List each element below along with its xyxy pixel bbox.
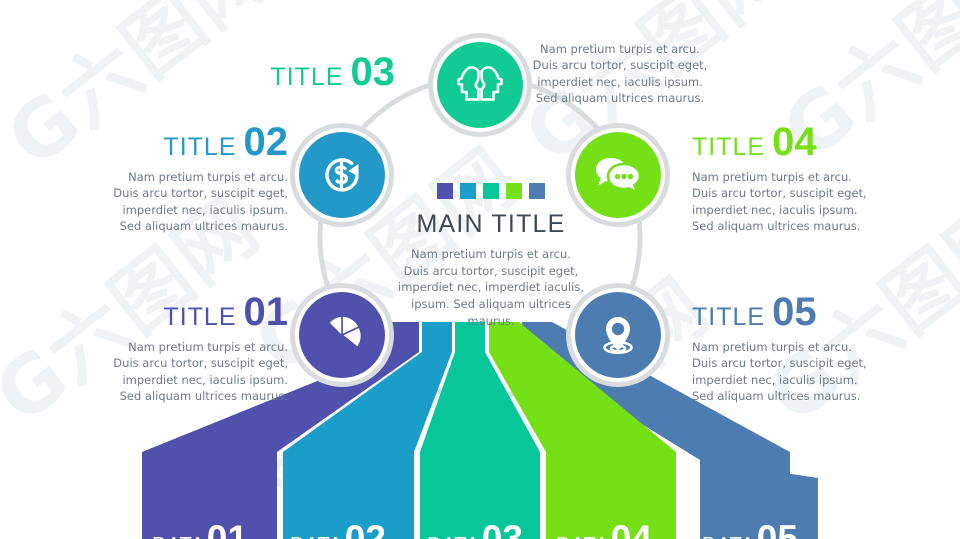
pie-chart-icon: [318, 311, 366, 359]
data-bar-label-1: DATA 01: [152, 518, 248, 539]
section-number: 02: [244, 122, 289, 162]
data-bar-value: 05: [757, 518, 798, 539]
data-bar-text: DATA: [290, 534, 343, 539]
data-bar-label-5: DATA 05: [702, 518, 798, 539]
section-number: 01: [244, 292, 289, 332]
swatch-1: [437, 183, 453, 199]
section-word: TITLE: [270, 65, 343, 90]
swatch-2: [460, 183, 476, 199]
swatch-5: [529, 183, 545, 199]
section-block-5: TITLE 05 Nam pretium turpis et arcu. Dui…: [692, 292, 874, 404]
section-block-2: TITLE 02 Nam pretium turpis et arcu. Dui…: [108, 122, 288, 234]
data-bar-value: 02: [345, 518, 386, 539]
data-bar-label-4: DATA 04: [556, 518, 652, 539]
section-heading-3: TITLE 03: [245, 52, 395, 92]
swatch-3: [483, 183, 499, 199]
section-number: 03: [351, 52, 396, 92]
node-disc-1: [295, 288, 389, 382]
section-body-4: Nam pretium turpis et arcu. Duis arcu to…: [692, 169, 874, 234]
map-pin-icon: [594, 311, 642, 359]
data-bar-value: 04: [611, 518, 652, 539]
section-number: 05: [772, 292, 817, 332]
section-heading-4: TITLE 04: [692, 122, 874, 162]
data-bar-text: DATA: [427, 534, 480, 539]
section-body-1: Nam pretium turpis et arcu. Duis arcu to…: [108, 339, 288, 404]
main-description: Nam pretium turpis et arcu. Duis arcu to…: [398, 246, 584, 329]
data-bar-value: 03: [482, 518, 523, 539]
section-body-5: Nam pretium turpis et arcu. Duis arcu to…: [692, 339, 874, 404]
section-block-3: TITLE 03: [245, 52, 395, 92]
data-bar-text: DATA: [152, 534, 205, 539]
section-body-wrap-3: Nam pretium turpis et arcu. Duis arcu to…: [530, 41, 710, 106]
data-bar-label-3: DATA 03: [427, 518, 523, 539]
center-block: MAIN TITLE Nam pretium turpis et arcu. D…: [398, 183, 584, 329]
section-word: TITLE: [692, 305, 765, 330]
section-block-4: TITLE 04 Nam pretium turpis et arcu. Dui…: [692, 122, 874, 234]
section-number: 04: [772, 122, 817, 162]
node-circle-3[interactable]: [428, 33, 532, 137]
data-bar-value: 01: [207, 518, 248, 539]
node-disc-3: [433, 38, 527, 132]
two-heads-icon: [456, 63, 504, 107]
section-heading-5: TITLE 05: [692, 292, 874, 332]
section-heading-1: TITLE 01: [108, 292, 288, 332]
section-heading-2: TITLE 02: [108, 122, 288, 162]
section-word: TITLE: [163, 135, 236, 160]
section-word: TITLE: [163, 305, 236, 330]
swatch-4: [506, 183, 522, 199]
node-circle-4[interactable]: [566, 123, 670, 227]
data-bar-text: DATA: [556, 534, 609, 539]
main-title: MAIN TITLE: [398, 212, 584, 237]
data-bar-text: DATA: [702, 534, 755, 539]
section-body-3: Nam pretium turpis et arcu. Duis arcu to…: [530, 41, 710, 106]
node-disc-4: [571, 128, 665, 222]
infographic-canvas: G六图网 G六图网 G六图网 G六图网 G六图网 G六图网 G六图网 G六图网: [0, 0, 960, 539]
node-circle-2[interactable]: [290, 123, 394, 227]
money-refresh-icon: [318, 151, 366, 199]
node-disc-5: [571, 288, 665, 382]
section-body-2: Nam pretium turpis et arcu. Duis arcu to…: [108, 169, 288, 234]
node-circle-1[interactable]: [290, 283, 394, 387]
color-swatch-row: [398, 183, 584, 199]
section-block-1: TITLE 01 Nam pretium turpis et arcu. Dui…: [108, 292, 288, 404]
section-word: TITLE: [692, 135, 765, 160]
data-bar-label-2: DATA 02: [290, 518, 386, 539]
chat-bubbles-icon: [593, 154, 643, 196]
node-disc-2: [295, 128, 389, 222]
node-circle-5[interactable]: [566, 283, 670, 387]
